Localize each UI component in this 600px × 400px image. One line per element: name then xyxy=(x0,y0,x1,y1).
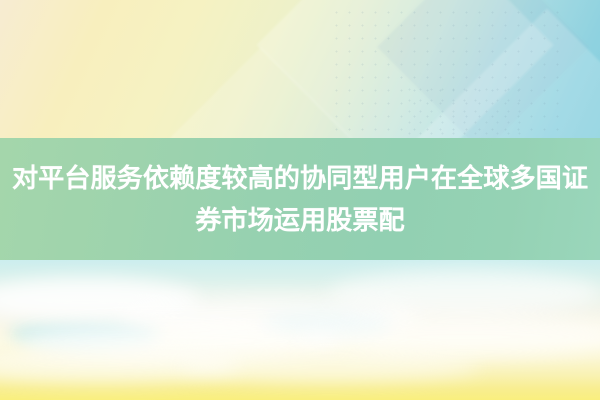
top-gradient-panel xyxy=(0,0,600,140)
cloud-shape xyxy=(330,270,600,316)
cloud-shape xyxy=(180,352,480,382)
bottom-sky-panel xyxy=(0,260,600,400)
headline-band: 对平台服务依赖度较高的协同型用户在全球多国证券市场运用股票配 xyxy=(0,138,600,260)
dot-pattern-texture xyxy=(404,84,524,136)
headline-text: 对平台服务依赖度较高的协同型用户在全球多国证券市场运用股票配 xyxy=(0,157,600,241)
banner-graphic: 对平台服务依赖度较高的协同型用户在全球多国证券市场运用股票配 xyxy=(0,0,600,400)
